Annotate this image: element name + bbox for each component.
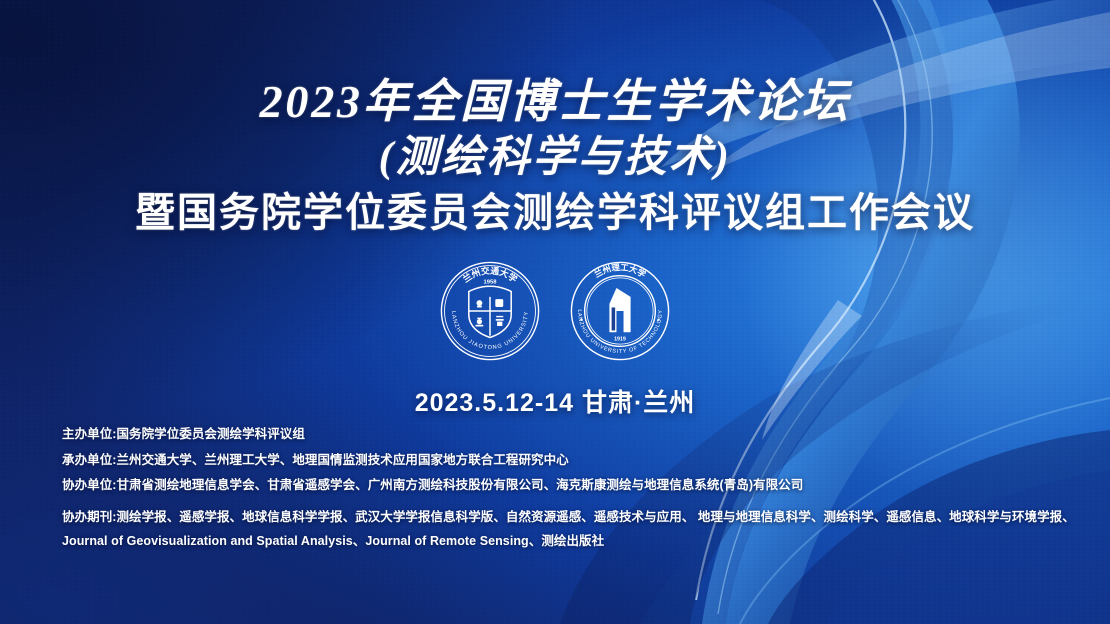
footer-organizer: 承办单位:兰州交通大学、兰州理工大学、地理国情监测技术应用国家地方联合工程研究中… bbox=[62, 454, 1080, 467]
conference-poster: 2023年全国博士生学术论坛 (测绘科学与技术) 暨国务院学位委员会测绘学科评议… bbox=[0, 0, 1110, 624]
logo-lanzhou-jiaotong-university: 1958 兰州交通大学 LANZHOU JIAOTONG UNIVERSITY bbox=[437, 258, 543, 364]
footer-journals: 协办期刊:测绘学报、遥感学报、地球信息科学学报、武汉大学学报信息科学版、自然资源… bbox=[62, 505, 1080, 554]
logo-lanzhou-university-of-technology: 1919 兰州理工大学 LANZHOU UNIVERSITY OF TECHNO… bbox=[567, 258, 673, 364]
footer-host: 主办单位:国务院学位委员会测绘学科评议组 bbox=[62, 428, 1080, 441]
svg-text:1958: 1958 bbox=[484, 280, 498, 286]
poster-footer: 主办单位:国务院学位委员会测绘学科评议组 承办单位:兰州交通大学、兰州理工大学、… bbox=[62, 428, 1080, 553]
footer-coorganizer: 协办单位:甘肃省测绘地理信息学会、甘肃省遥感学会、广州南方测绘科技股份有限公司、… bbox=[62, 479, 1080, 492]
svg-text:兰州理工大学: 兰州理工大学 bbox=[592, 262, 648, 280]
poster-title: 2023年全国博士生学术论坛 (测绘科学与技术) 暨国务院学位委员会测绘学科评议… bbox=[0, 78, 1110, 235]
title-line-2: (测绘科学与技术) bbox=[0, 135, 1110, 181]
title-line-1: 2023年全国博士生学术论坛 bbox=[0, 78, 1110, 127]
svg-text:1919: 1919 bbox=[614, 337, 626, 343]
title-line-3: 暨国务院学位委员会测绘学科评议组工作会议 bbox=[0, 192, 1110, 234]
university-logos: 1958 兰州交通大学 LANZHOU JIAOTONG UNIVERSITY bbox=[0, 258, 1110, 364]
event-date-location: 2023.5.12-14 甘肃·兰州 bbox=[0, 383, 1110, 419]
